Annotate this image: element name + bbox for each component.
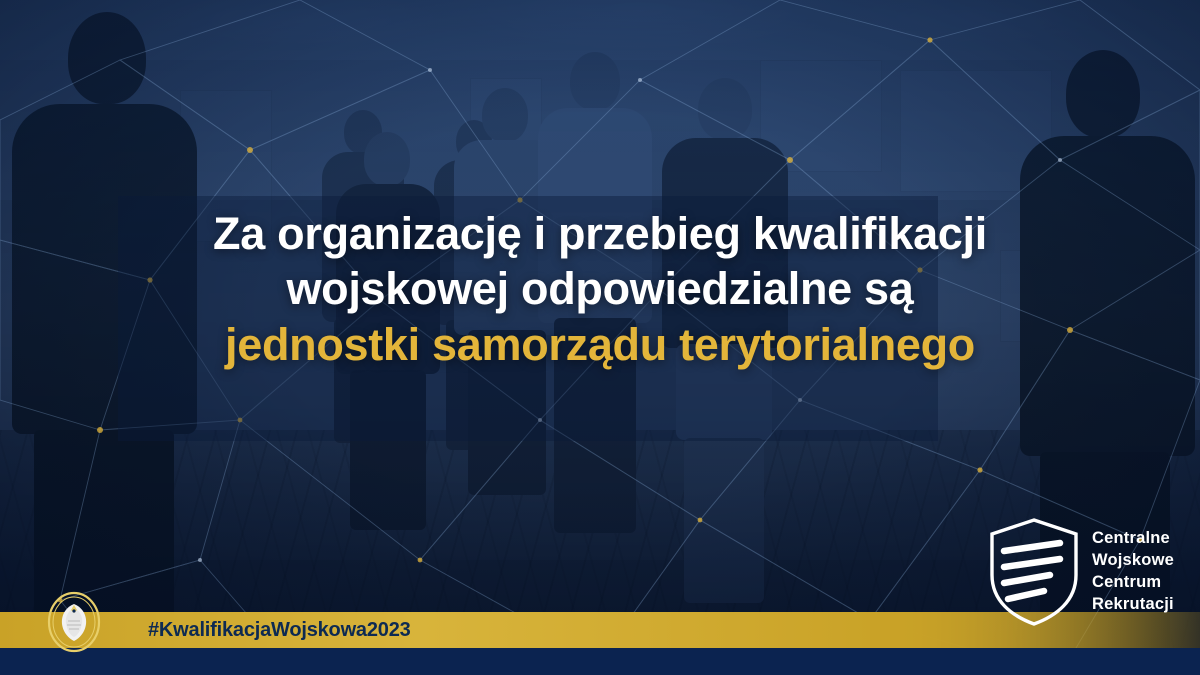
headline: Za organizację i przebieg kwalifikacji w…: [0, 206, 1200, 372]
headline-line-1: Za organizację i przebieg kwalifikacji: [60, 206, 1140, 261]
headline-line-2: wojskowej odpowiedzialne są: [60, 261, 1140, 316]
cwcr-shield-icon: [988, 517, 1080, 627]
hashtag-label: #KwalifikacjaWojskowa2023: [148, 612, 411, 648]
cwcr-line-4: Rekrutacji: [1092, 594, 1174, 616]
cwcr-line-3: Centrum: [1092, 572, 1174, 594]
cwcr-logo-text: Centralne Wojskowe Centrum Rekrutacji: [1092, 528, 1174, 615]
bottom-navy-strip: [0, 648, 1200, 675]
cwcr-line-1: Centralne: [1092, 528, 1174, 550]
headline-line-3: jednostki samorządu terytorialnego: [60, 317, 1140, 372]
cwcr-logo: Centralne Wojskowe Centrum Rekrutacji: [988, 517, 1174, 627]
cwcr-line-2: Wojskowe: [1092, 550, 1174, 572]
poster-canvas: Za organizację i przebieg kwalifikacji w…: [0, 0, 1200, 675]
polish-eagle-emblem-icon: [46, 591, 102, 653]
